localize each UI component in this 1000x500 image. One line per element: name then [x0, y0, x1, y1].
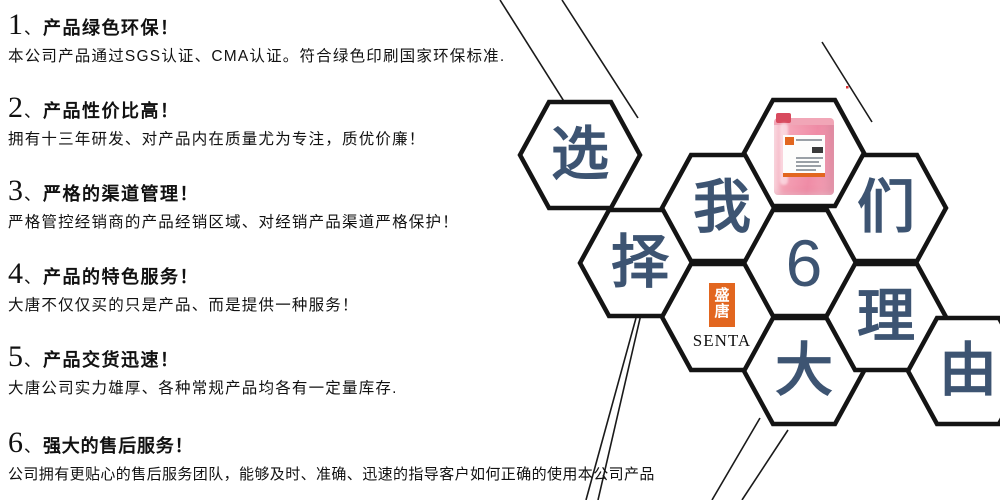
reason-number: 5 — [8, 342, 23, 372]
reason-separator: 、 — [24, 20, 41, 37]
reason-title: 产品的特色服务！ — [43, 268, 199, 286]
label-text-line — [796, 139, 822, 141]
reason-number: 3 — [8, 176, 23, 206]
poster-canvas: 1 、 产品绿色环保！ 本公司产品通过SGS认证、CMA认证。符合绿色印刷国家环… — [0, 0, 1000, 500]
reason-heading: 4 、 产品的特色服务！ — [8, 259, 359, 289]
product-jerrycan-image — [771, 111, 837, 195]
reason-item-4: 4 、 产品的特色服务！ 大唐不仅仅买的只是产品、而是提供一种服务！ — [8, 259, 359, 314]
reason-item-1: 1 、 产品绿色环保！ 本公司产品通过SGS认证、CMA认证。符合绿色印刷国家环… — [8, 10, 505, 65]
reason-number: 6 — [8, 428, 23, 458]
reason-number: 4 — [8, 259, 23, 289]
logo-char-tang: 唐 — [714, 305, 729, 321]
reason-heading: 2 、 产品性价比高！ — [8, 93, 426, 123]
label-text-line — [796, 157, 823, 159]
reason-title: 产品交货迅速！ — [43, 351, 180, 369]
reason-separator: 、 — [24, 186, 41, 203]
hex-glyph: 由 — [906, 316, 1000, 426]
reason-heading: 5 、 产品交货迅速！ — [8, 342, 398, 372]
reason-separator: 、 — [24, 438, 41, 455]
reason-body: 严格管控经销商的产品经销区域、对经销产品渠道严格保护！ — [8, 215, 459, 231]
reason-item-5: 5 、 产品交货迅速！ 大唐公司实力雄厚、各种常规产品均各有一定量库存. — [8, 342, 398, 397]
reason-body: 公司拥有更贴心的售后服务团队，能够及时、准确、迅速的指导客户如何正确的使用本公司… — [8, 467, 998, 482]
logo-seal-icon: 盛 唐 — [709, 283, 735, 327]
label-text-line — [796, 169, 816, 171]
label-logo-mark — [785, 137, 794, 145]
reason-item-6: 6 、 强大的售后服务！ 公司拥有更贴心的售后服务团队，能够及时、准确、迅速的指… — [8, 428, 998, 482]
reason-separator: 、 — [24, 103, 41, 120]
hex-cell-product — [742, 98, 866, 208]
reason-item-2: 2 、 产品性价比高！ 拥有十三年研发、对产品内在质量尤为专注，质优价廉！ — [8, 93, 426, 148]
reason-body: 拥有十三年研发、对产品内在质量尤为专注，质优价廉！ — [8, 132, 426, 148]
reason-item-3: 3 、 严格的渠道管理！ 严格管控经销商的产品经销区域、对经销产品渠道严格保护！ — [8, 176, 459, 231]
label-text-line — [796, 161, 819, 163]
reason-heading: 3 、 严格的渠道管理！ — [8, 176, 459, 206]
reason-title: 产品绿色环保！ — [43, 19, 180, 37]
reason-body: 大唐不仅仅买的只是产品、而是提供一种服务！ — [8, 298, 359, 314]
jerrycan-cap — [776, 113, 791, 123]
jerrycan-label — [783, 135, 825, 177]
logo-char-sheng: 盛 — [714, 289, 729, 305]
reason-body: 本公司产品通过SGS认证、CMA认证。符合绿色印刷国家环保标准. — [8, 49, 505, 65]
reason-title: 严格的渠道管理！ — [43, 185, 199, 203]
reason-heading: 1 、 产品绿色环保！ — [8, 10, 505, 40]
reasons-list: 1 、 产品绿色环保！ 本公司产品通过SGS认证、CMA认证。符合绿色印刷国家环… — [0, 0, 660, 500]
reason-number: 1 — [8, 10, 23, 40]
reason-body: 大唐公司实力雄厚、各种常规产品均各有一定量库存. — [8, 381, 398, 397]
label-text-line — [796, 165, 821, 167]
reason-title: 强大的售后服务！ — [43, 437, 193, 455]
reason-heading: 6 、 强大的售后服务！ — [8, 428, 998, 458]
reason-title: 产品性价比高！ — [43, 102, 180, 120]
label-barcode — [812, 147, 823, 153]
reason-separator: 、 — [24, 269, 41, 286]
hex-cell-you: 由 — [906, 316, 1000, 426]
reason-separator: 、 — [24, 352, 41, 369]
reason-number: 2 — [8, 93, 23, 123]
